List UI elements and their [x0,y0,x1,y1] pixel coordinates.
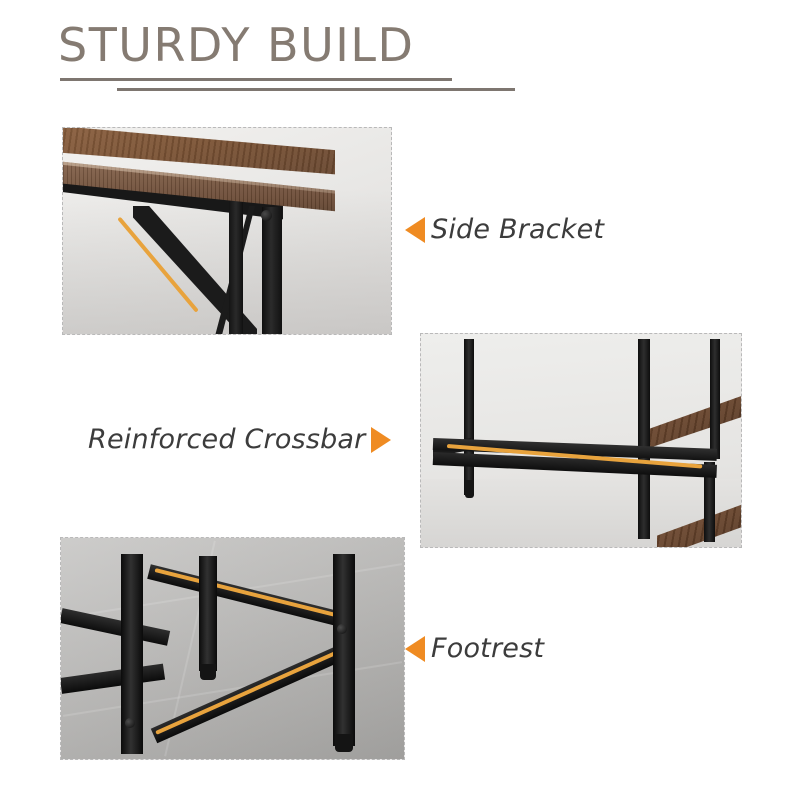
triangle-left-icon [405,217,425,243]
callout-side-bracket: Side Bracket [405,214,604,245]
desk-leg-inner [229,196,243,335]
desk-leg-front [262,207,282,335]
title-underline-upper [60,78,452,81]
callout-reinforced-crossbar: Reinforced Crossbar [88,424,391,455]
callout-label-footrest: Footrest [431,633,544,664]
photo-side-bracket [62,127,392,335]
title-underline-lower [117,88,515,91]
screw-icon [337,624,347,634]
callout-footrest: Footrest [405,633,544,664]
photo-reinforced-crossbar-content [421,334,741,547]
callout-label-reinforced-crossbar: Reinforced Crossbar [88,424,365,455]
triangle-left-icon [405,636,425,662]
leg-foot-middle [200,664,216,680]
photo-footrest [60,537,405,760]
leg-foot-right [335,734,353,752]
screw-icon [125,718,135,728]
metal-post-middle [638,339,650,539]
metal-post-left [464,339,474,495]
triangle-right-icon [371,427,391,453]
photo-reinforced-crossbar [420,333,742,548]
leg-foot-left [465,480,474,498]
photo-footrest-content [61,538,404,759]
callout-label-side-bracket: Side Bracket [431,214,604,245]
page-title: STURDY BUILD [58,18,414,72]
metal-post-middle [199,556,217,671]
metal-post-right-upper [710,339,720,459]
photo-side-bracket-content [63,128,391,334]
metal-post-right [333,554,355,746]
screw-icon [261,210,272,221]
title-block: STURDY BUILD [0,0,800,110]
